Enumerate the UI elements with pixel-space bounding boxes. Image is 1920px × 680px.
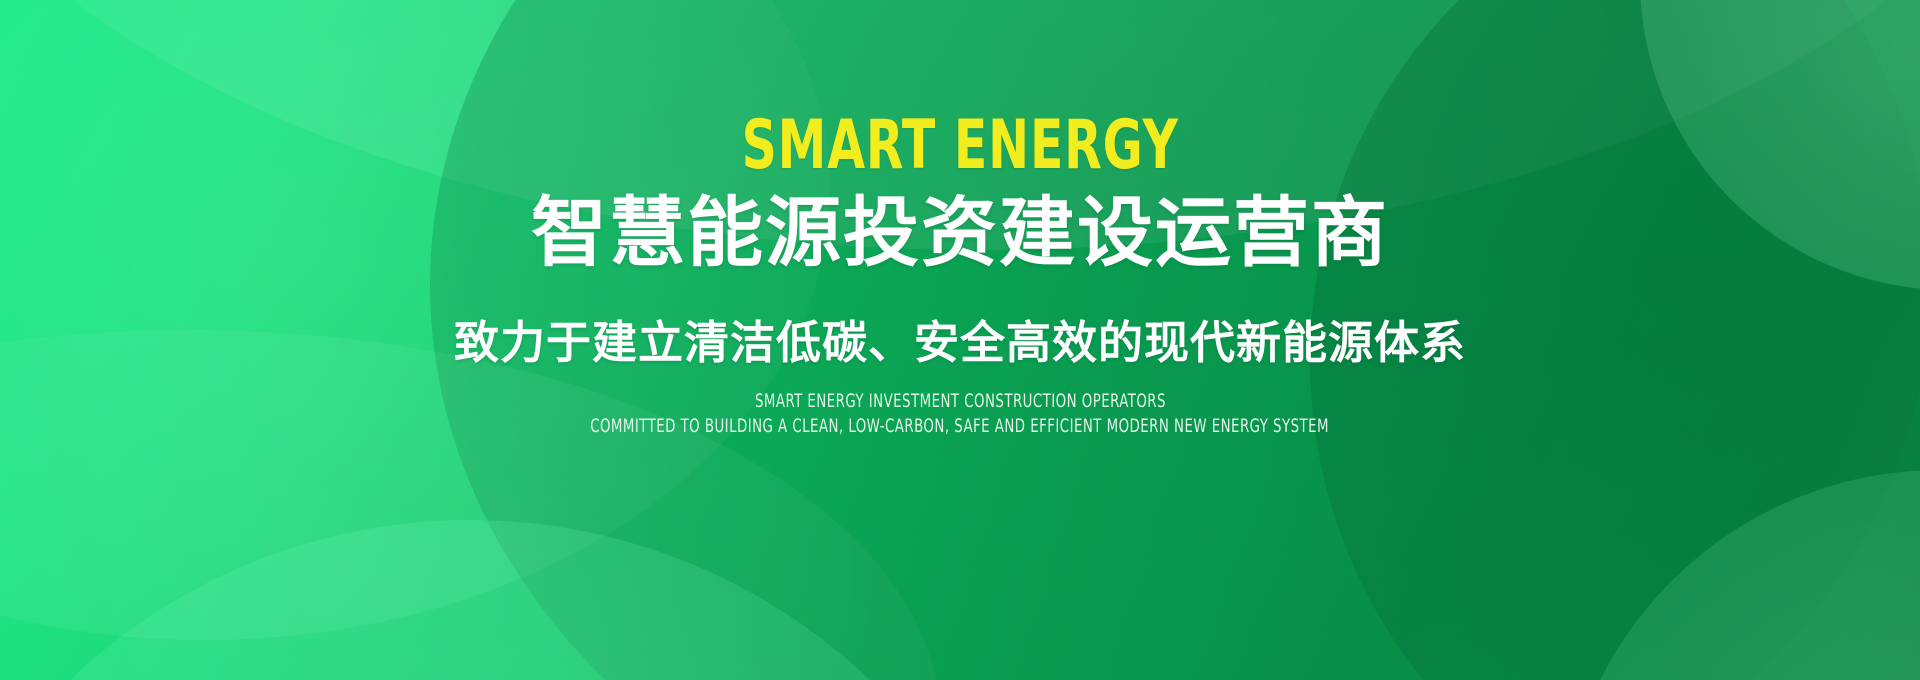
headline-english: SMART ENERGY bbox=[741, 112, 1178, 180]
hero-banner: SMART ENERGY 智慧能源投资建设运营商 致力于建立清洁低碳、安全高效的… bbox=[0, 0, 1920, 680]
subtitle-chinese: 致力于建立清洁低碳、安全高效的现代新能源体系 bbox=[454, 318, 1466, 368]
headline-chinese: 智慧能源投资建设运营商 bbox=[531, 194, 1389, 274]
tagline-english-line-1: SMART ENERGY INVESTMENT CONSTRUCTION OPE… bbox=[755, 389, 1166, 413]
hero-text-block: SMART ENERGY 智慧能源投资建设运营商 致力于建立清洁低碳、安全高效的… bbox=[0, 0, 1920, 680]
tagline-english-line-2: COMMITTED TO BUILDING A CLEAN, LOW-CARBO… bbox=[591, 414, 1330, 438]
